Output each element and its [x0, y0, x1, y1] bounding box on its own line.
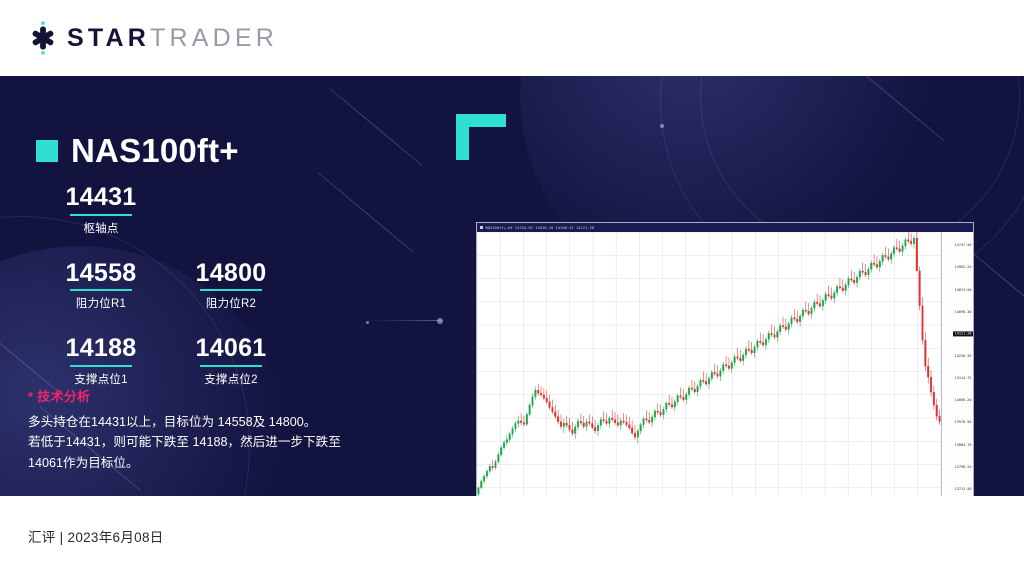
- level-label: 阻力位R2: [166, 295, 296, 311]
- price-tick: 13970.50: [955, 420, 972, 424]
- level-label: 支撑点位2: [166, 371, 296, 387]
- level-value: 14431: [36, 184, 166, 211]
- six-point-asterisk-star-icon: [26, 21, 60, 55]
- level-label: 阻力位R1: [36, 295, 166, 311]
- chart-window-title: NAS100ft+,H4 14234.62 14526.18 14206.42 …: [486, 226, 595, 230]
- price-levels: 14431 枢轴点 14558 阻力位R1 14800 阻力位R2: [36, 184, 416, 401]
- price-tick: 14056.20: [955, 398, 972, 402]
- banner: NAS100ft+ 14431 枢轴点 14558 阻力位R1: [0, 76, 1024, 496]
- brand-name-light: TRADER: [150, 24, 278, 52]
- level-resistance-2: 14800 阻力位R2: [166, 260, 296, 312]
- left-content: NAS100ft+ 14431 枢轴点 14558 阻力位R1: [0, 76, 430, 496]
- instrument-title-row: NAS100ft+: [36, 134, 239, 167]
- price-tick: 13884.70: [955, 443, 972, 447]
- current-price-label: 14121.28: [953, 331, 973, 336]
- chart-window-titlebar: NAS100ft+,H4 14234.62 14526.18 14206.42 …: [477, 223, 973, 232]
- brand-wordmark: STARTRADER: [67, 26, 278, 51]
- technical-analysis-body: 多头持仓在14431以上，目标位为 14558及 14800。 若低于14431…: [28, 412, 428, 473]
- title-square-marker: [36, 140, 58, 162]
- candlestick-svg: [477, 232, 941, 496]
- level-support-2: 14061 支撑点位2: [166, 335, 296, 387]
- chart-window-icon: [480, 226, 483, 229]
- top-bar: STARTRADER: [0, 0, 1024, 76]
- brand-logo[interactable]: STARTRADER: [26, 21, 278, 55]
- level-divider: [200, 365, 262, 367]
- level-value: 14188: [36, 335, 166, 362]
- price-tick: 14874.50: [955, 288, 972, 292]
- price-tick: 14747.50: [955, 243, 972, 247]
- candlestick-plot[interactable]: [477, 232, 941, 496]
- price-tick: 13712.50: [955, 487, 972, 491]
- technical-analysis: * 技术分析 多头持仓在14431以上，目标位为 14558及 14800。 若…: [28, 386, 428, 473]
- level-value: 14558: [36, 260, 166, 287]
- level-divider: [70, 365, 132, 367]
- price-tick: 14144.75: [955, 376, 972, 380]
- level-resistance-1: 14558 阻力位R1: [36, 260, 166, 312]
- price-tick: 14236.35: [955, 354, 972, 358]
- resistance-row: 14558 阻力位R1 14800 阻力位R2: [36, 260, 416, 326]
- level-divider: [200, 289, 262, 291]
- instrument-title: NAS100ft+: [71, 134, 239, 167]
- corner-bracket-top-left: [456, 114, 469, 160]
- analysis-line-3: 14061作为目标位。: [28, 453, 428, 473]
- pivot-row: 14431 枢轴点: [36, 184, 416, 250]
- level-value: 14061: [166, 335, 296, 362]
- price-tick: 13798.20: [955, 465, 972, 469]
- brand-name-bold: STAR: [67, 24, 150, 52]
- trading-chart-window[interactable]: NAS100ft+,H4 14234.62 14526.18 14206.42 …: [476, 222, 974, 496]
- poster-page: STARTRADER NAS100ft+: [0, 0, 1024, 576]
- price-tick: 14690.30: [955, 310, 972, 314]
- level-pivot: 14431 枢轴点: [36, 184, 166, 236]
- level-divider: [70, 289, 132, 291]
- level-label: 支撑点位1: [36, 371, 166, 387]
- level-label: 枢轴点: [36, 220, 166, 236]
- footer: 汇评 | 2023年6月08日: [0, 496, 1024, 576]
- analysis-line-2: 若低于14431，则可能下跌至 14188，然后进一步下跌至: [28, 432, 428, 452]
- level-support-1: 14188 支撑点位1: [36, 335, 166, 387]
- footer-text: 汇评 | 2023年6月08日: [28, 526, 164, 546]
- level-value: 14800: [166, 260, 296, 287]
- chart-zone: NAS100ft+,H4 14234.62 14526.18 14206.42 …: [443, 114, 983, 464]
- analysis-line-1: 多头持仓在14431以上，目标位为 14558及 14800。: [28, 412, 428, 432]
- price-tick: 14962.20: [955, 265, 972, 269]
- technical-analysis-heading: * 技术分析: [28, 386, 428, 405]
- level-divider: [70, 214, 132, 216]
- price-axis[interactable]: 14747.5014962.2014874.5014690.3014502.22…: [941, 232, 973, 496]
